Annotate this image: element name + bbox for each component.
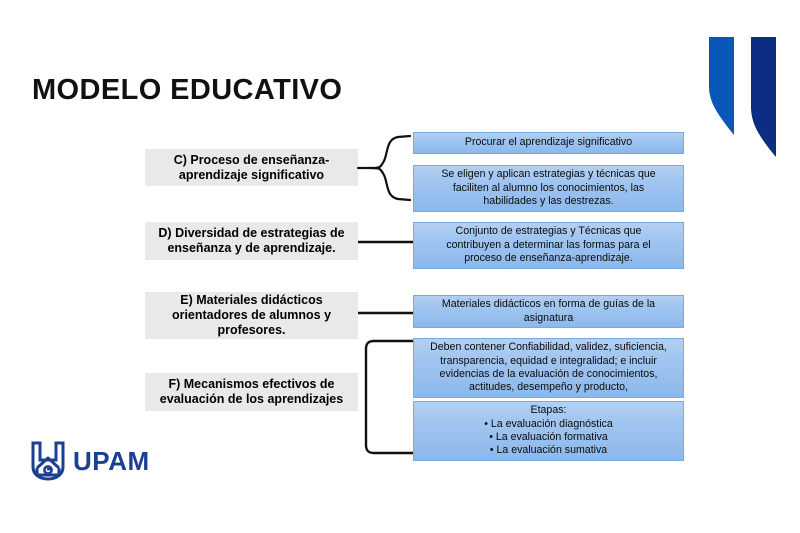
logo-text: UPAM: [73, 448, 150, 474]
content-line: actitudes, desempeño y producto,: [421, 381, 676, 394]
content-box-e1: Materiales didácticos en forma de guías …: [413, 295, 684, 328]
content-line: asignatura: [421, 312, 676, 325]
content-line: faciliten al alumno los conocimientos, l…: [421, 182, 676, 195]
content-line: Materiales didácticos en forma de guías …: [421, 298, 676, 311]
label-line: D) Diversidad de estrategias de: [158, 226, 344, 241]
label-box-e: E) Materiales didácticos orientadores de…: [145, 292, 358, 339]
content-line: Deben contener Confiabilidad, validez, s…: [421, 341, 676, 354]
slide-canvas: MODELO EDUCATIVO C) Proceso de enseñanza…: [0, 0, 800, 533]
content-box-d1: Conjunto de estrategias y Técnicas que c…: [413, 222, 684, 269]
label-line: evaluación de los aprendizajes: [160, 392, 343, 407]
label-line: enseñanza y de aprendizaje.: [158, 241, 344, 256]
upam-logo: UPAM: [30, 441, 150, 481]
connector-line-e: [358, 311, 414, 315]
content-line: • La evaluación diagnóstica: [421, 418, 676, 431]
content-line: Procurar el aprendizaje significativo: [421, 136, 676, 149]
content-box-c2: Se eligen y aplican estrategias y técnic…: [413, 165, 684, 212]
content-line: Se eligen y aplican estrategias y técnic…: [421, 168, 676, 181]
content-line: proceso de enseñanza-aprendizaje.: [421, 252, 676, 265]
connector-brace-c: [358, 133, 413, 203]
content-line: Etapas:: [421, 404, 676, 417]
label-line: profesores.: [172, 323, 331, 338]
decorative-blue-bars: [709, 37, 797, 162]
label-line: E) Materiales didácticos: [172, 293, 331, 308]
content-box-f2: Etapas: • La evaluación diagnóstica • La…: [413, 401, 684, 461]
content-box-f1: Deben contener Confiabilidad, validez, s…: [413, 338, 684, 398]
content-line: transparencia, equidad e integralidad; e…: [421, 355, 676, 368]
label-line: orientadores de alumnos y: [172, 308, 331, 323]
label-box-d: D) Diversidad de estrategias de enseñanz…: [145, 222, 358, 260]
content-line: evidencias de la evaluación de conocimie…: [421, 368, 676, 381]
content-line: • La evaluación formativa: [421, 431, 676, 444]
label-box-f: F) Mecanismos efectivos de evaluación de…: [145, 373, 358, 411]
light-blue-bar: [709, 37, 734, 135]
label-line: C) Proceso de enseñanza-: [174, 153, 330, 168]
content-line: habilidades y las destrezas.: [421, 195, 676, 208]
page-title: MODELO EDUCATIVO: [32, 74, 342, 107]
label-line: F) Mecanismos efectivos de: [160, 377, 343, 392]
label-line: aprendizaje significativo: [174, 168, 330, 183]
content-line: • La evaluación sumativa: [421, 444, 676, 457]
connector-line-d: [358, 240, 414, 244]
content-box-c1: Procurar el aprendizaje significativo: [413, 132, 684, 154]
dark-blue-bar: [751, 37, 776, 157]
label-box-c: C) Proceso de enseñanza- aprendizaje sig…: [145, 149, 358, 186]
shield-house-icon: [30, 441, 66, 481]
content-line: Conjunto de estrategias y Técnicas que: [421, 225, 676, 238]
content-line: contribuyen a determinar las formas para…: [421, 239, 676, 252]
connector-bracket-f: [358, 338, 414, 456]
